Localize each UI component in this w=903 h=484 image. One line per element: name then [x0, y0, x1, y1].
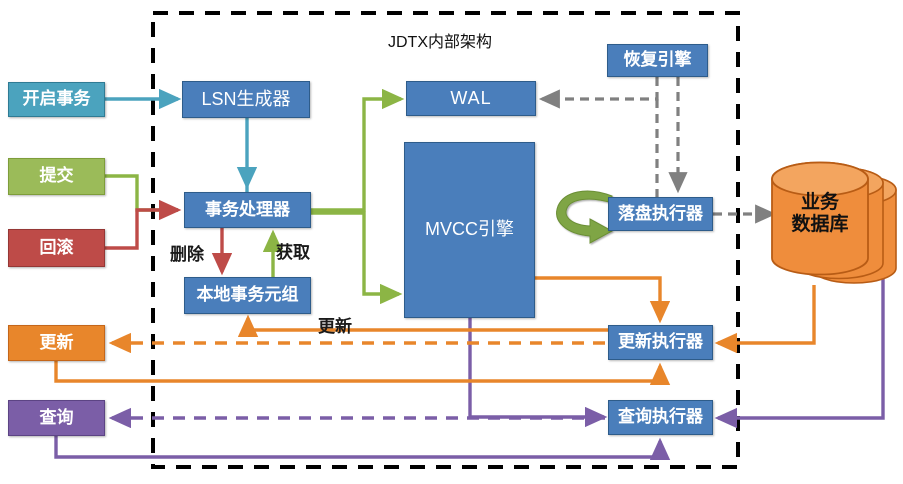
edge-recovery-to-wal	[542, 77, 657, 99]
node-transaction-processor[interactable]: 事务处理器	[184, 192, 311, 228]
edge-database-to-updexec	[718, 285, 814, 343]
node-flush-executor[interactable]: 落盘执行器	[608, 197, 713, 231]
edge-label-update: 更新	[318, 312, 352, 337]
edge-updexec-to-localtuple	[248, 318, 608, 330]
node-business-database-label-line2: 数据库	[770, 214, 870, 236]
edge-query-input-to-qryexec	[56, 436, 660, 457]
edge-update-input-to-updexec	[56, 361, 660, 381]
edge-mvcc-to-updexec	[535, 278, 660, 320]
edge-commit-to-txproc	[105, 176, 178, 210]
node-business-database-label-line1: 业务	[770, 192, 870, 214]
node-local-transaction-tuple-label: 本地事务元组	[197, 286, 299, 305]
edge-txproc-to-mvcc	[311, 213, 399, 294]
edge-txproc-to-wal	[311, 99, 401, 210]
node-query-executor-label: 查询执行器	[618, 408, 703, 427]
edge-label-delete: 删除	[170, 240, 204, 265]
node-update-executor[interactable]: 更新执行器	[608, 325, 713, 360]
node-wal-label: WAL	[450, 89, 491, 109]
input-commit[interactable]: 提交	[8, 158, 105, 195]
node-mvcc-engine[interactable]: MVCC引擎	[404, 142, 535, 318]
node-transaction-processor-label: 事务处理器	[205, 201, 290, 220]
architecture-diagram: JDTX内部架构 开启事务 提交 回滚 更新 查询 LSN生成器 WAL 恢复引…	[0, 0, 903, 484]
edge-label-fetch: 获取	[276, 238, 310, 263]
input-query[interactable]: 查询	[8, 400, 105, 436]
input-begin-transaction-label: 开启事务	[23, 90, 91, 109]
node-lsn-generator[interactable]: LSN生成器	[182, 81, 310, 118]
input-commit-label: 提交	[40, 167, 74, 186]
node-recovery-engine[interactable]: 恢复引擎	[607, 44, 708, 77]
diagram-title: JDTX内部架构	[388, 28, 492, 52]
input-rollback[interactable]: 回滚	[8, 229, 105, 267]
edge-mvcc-to-qryexec	[470, 318, 604, 417]
flush-loop-arrow-icon	[557, 191, 612, 243]
node-business-database[interactable]: 业务 数据库	[770, 192, 870, 236]
node-flush-executor-label: 落盘执行器	[618, 205, 703, 224]
input-update[interactable]: 更新	[8, 325, 105, 361]
edge-rollback-to-txproc	[105, 210, 178, 248]
node-recovery-engine-label: 恢复引擎	[624, 51, 692, 70]
input-update-label: 更新	[40, 334, 74, 353]
input-rollback-label: 回滚	[40, 239, 74, 258]
node-update-executor-label: 更新执行器	[618, 333, 703, 352]
node-mvcc-engine-label: MVCC引擎	[425, 220, 514, 240]
node-wal[interactable]: WAL	[406, 81, 536, 116]
node-lsn-generator-label: LSN生成器	[201, 90, 290, 110]
input-begin-transaction[interactable]: 开启事务	[8, 82, 105, 117]
node-local-transaction-tuple[interactable]: 本地事务元组	[184, 277, 311, 314]
node-query-executor[interactable]: 查询执行器	[608, 400, 713, 435]
input-query-label: 查询	[40, 409, 74, 428]
